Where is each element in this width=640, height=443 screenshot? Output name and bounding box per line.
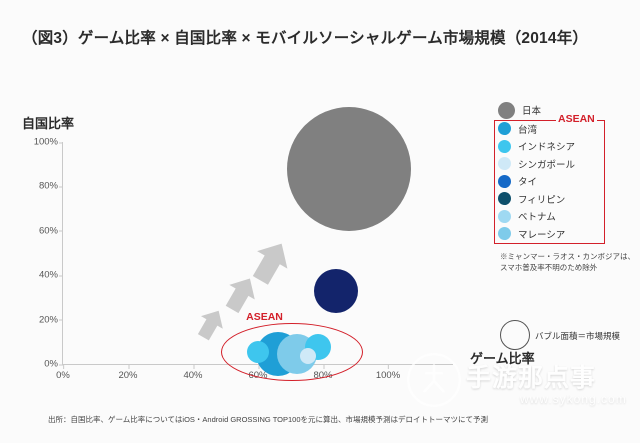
y-axis-tick: 60% [39,225,58,236]
legend-item: インドネシア [498,138,626,156]
legend-color-swatch [498,175,511,188]
x-axis-tick: 20% [118,370,137,381]
legend-color-swatch [498,102,515,119]
plot-area: 0%20%40%60%80%100%0%20%40%60%80%100%ASEA… [62,142,453,365]
legend-color-swatch [498,227,511,240]
legend-item-label: 台湾 [518,122,537,136]
y-axis-tick: 80% [39,181,58,192]
legend-item-label: マレーシア [518,227,565,241]
growth-arrow-icon [191,303,231,345]
legend-item-label: シンガポール [518,157,575,171]
watermark-subtitle: www.sykong.com [520,392,627,406]
asean-cluster-outline [221,323,363,381]
legend-item: ベトナム [498,208,626,226]
legend-item-label: フィリピン [518,192,565,206]
legend-item: マレーシア [498,225,626,243]
y-tick-mark [59,275,63,276]
asean-plot-label: ASEAN [246,311,283,323]
legend-asean-label: ASEAN [556,113,597,125]
y-axis-tick: 40% [39,270,58,281]
y-tick-mark [59,186,63,187]
legend-color-swatch [498,210,511,223]
x-axis-tick: 40% [183,370,202,381]
legend-color-swatch [498,122,511,135]
legend-item-label: インドネシア [518,139,575,153]
bubble-size-legend-label: バブル面積＝市場規模 [535,330,620,342]
legend-item-label: タイ [518,174,537,188]
y-axis-tick: 0% [44,359,58,370]
x-axis-tick: 0% [56,370,70,381]
x-tick-mark [128,365,129,369]
legend-color-swatch [498,140,511,153]
legend-item: タイ [498,173,626,191]
data-bubble [287,107,411,231]
bubble-size-legend-icon [500,320,530,350]
y-tick-mark [59,320,63,321]
x-tick-mark [193,365,194,369]
legend-color-swatch [498,192,511,205]
legend-item: フィリピン [498,190,626,208]
y-tick-mark [59,231,63,232]
data-bubble [314,269,358,313]
y-axis-label: 自国比率 [22,113,74,132]
legend-color-swatch [498,157,511,170]
x-tick-mark [63,365,64,369]
legend-note: ※ミャンマー・ラオス・カンボジアは、スマホ普及率不明のため除外 [500,252,635,274]
legend-item-label: 日本 [522,103,541,117]
source-note: 出所：自国比率、ゲーム比率についてはiOS・Android GROSSING T… [48,414,488,425]
page-title: （図3）ゲーム比率 × 自国比率 × モバイルソーシャルゲーム市場規模（2014… [22,26,588,48]
x-tick-mark [388,365,389,369]
y-tick-mark [59,142,63,143]
y-axis-tick: 20% [39,314,58,325]
legend-item: シンガポール [498,155,626,173]
x-axis-tick: 100% [376,370,400,381]
x-axis-label: ゲーム比率 [470,348,535,367]
y-axis-tick: 100% [34,137,58,148]
legend-item-label: ベトナム [518,209,556,223]
